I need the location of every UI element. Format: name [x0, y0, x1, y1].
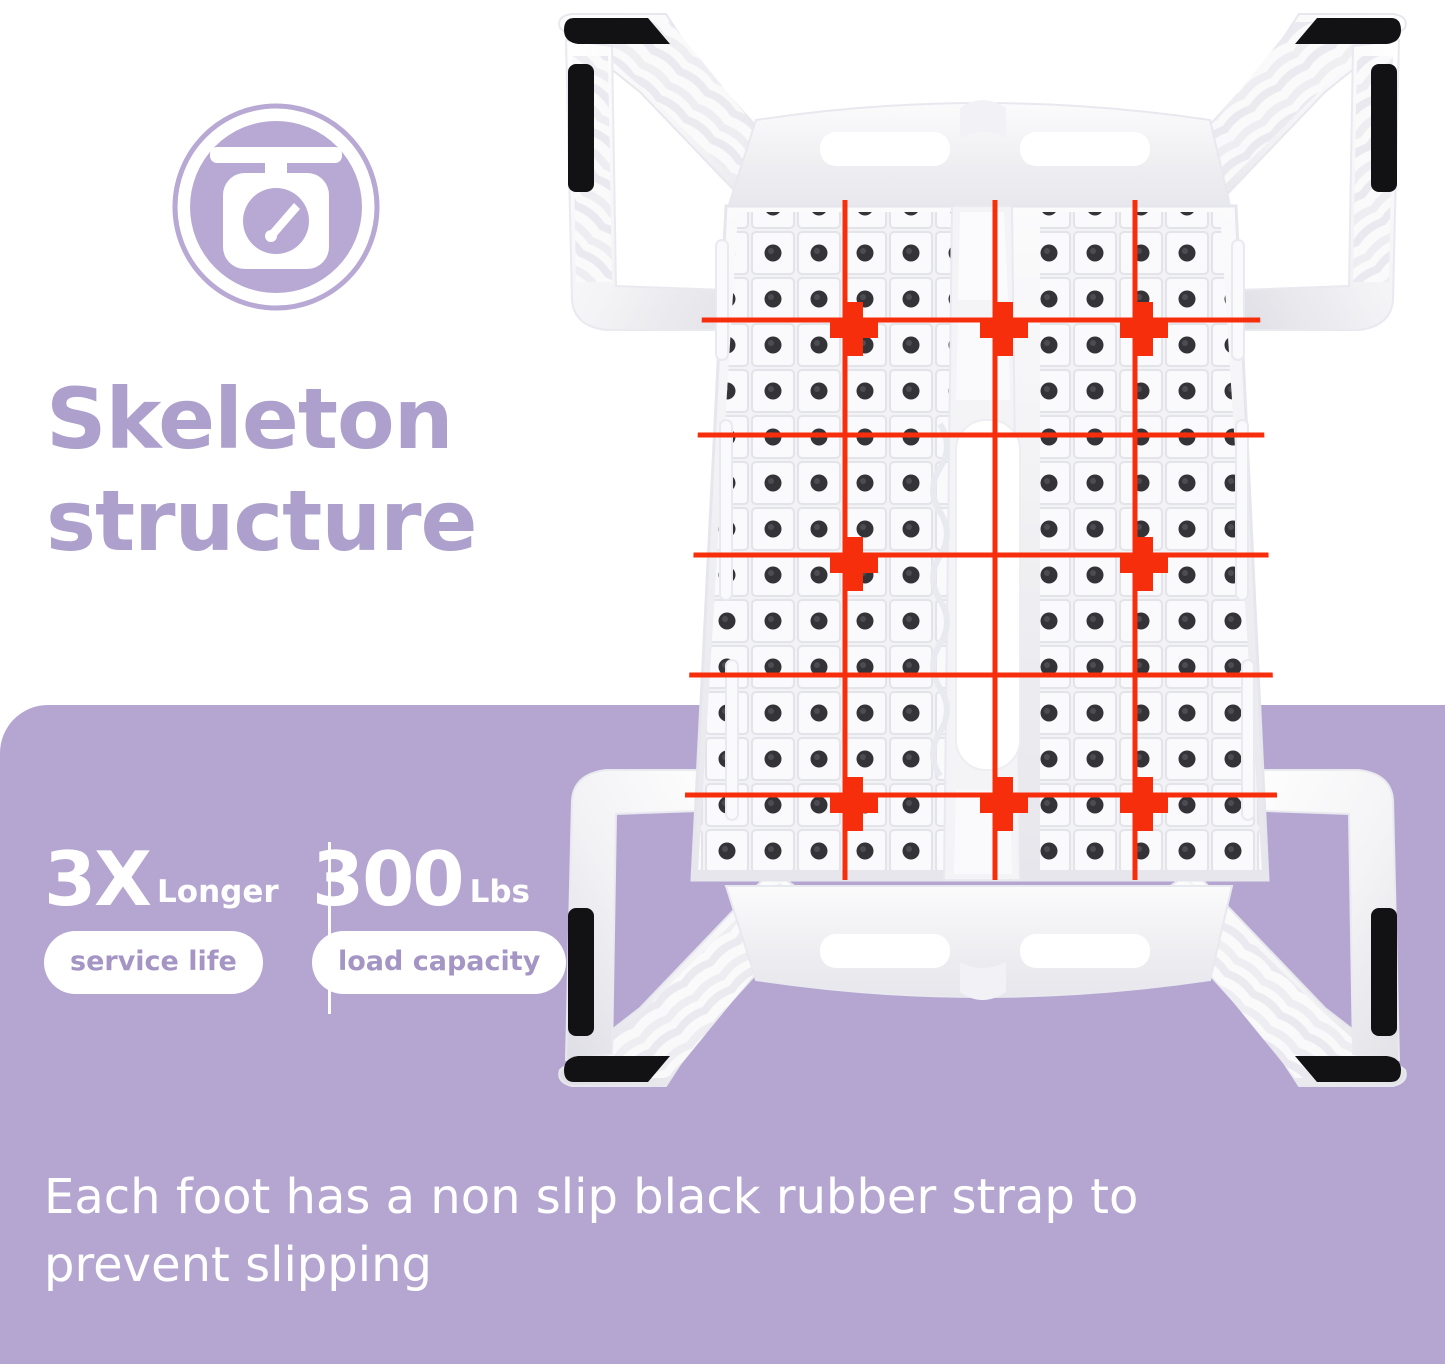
- stat-value: 300: [312, 840, 463, 918]
- stat-unit: Longer: [157, 877, 279, 908]
- stat-unit: Lbs: [470, 877, 530, 908]
- stats-group: 3X Longer service life 300 Lbs load capa…: [38, 840, 558, 1015]
- stat-pill-label: load capacity: [312, 931, 566, 994]
- stat-load-capacity: 300 Lbs load capacity: [286, 840, 538, 994]
- kitchen-scale-icon: [172, 103, 380, 311]
- top-brace: [726, 100, 1232, 214]
- stat-headline: 300 Lbs: [312, 840, 530, 918]
- infographic-canvas: Skeleton structure 3X Longer service lif…: [0, 0, 1445, 1364]
- page-title-line1: Skeleton: [46, 370, 453, 468]
- stat-pill-label: service life: [44, 931, 263, 994]
- stat-headline: 3X Longer: [44, 840, 279, 918]
- page-title: Skeleton structure: [46, 368, 606, 573]
- stats-divider: [328, 842, 331, 1014]
- stat-service-life: 3X Longer service life: [38, 840, 286, 994]
- page-title-line2: structure: [46, 470, 606, 572]
- bottom-brace: [726, 886, 1232, 1000]
- stat-value: 3X: [44, 840, 150, 918]
- feature-caption: Each foot has a non slip black rubber st…: [44, 1163, 1224, 1299]
- product-image: [520, 0, 1445, 1120]
